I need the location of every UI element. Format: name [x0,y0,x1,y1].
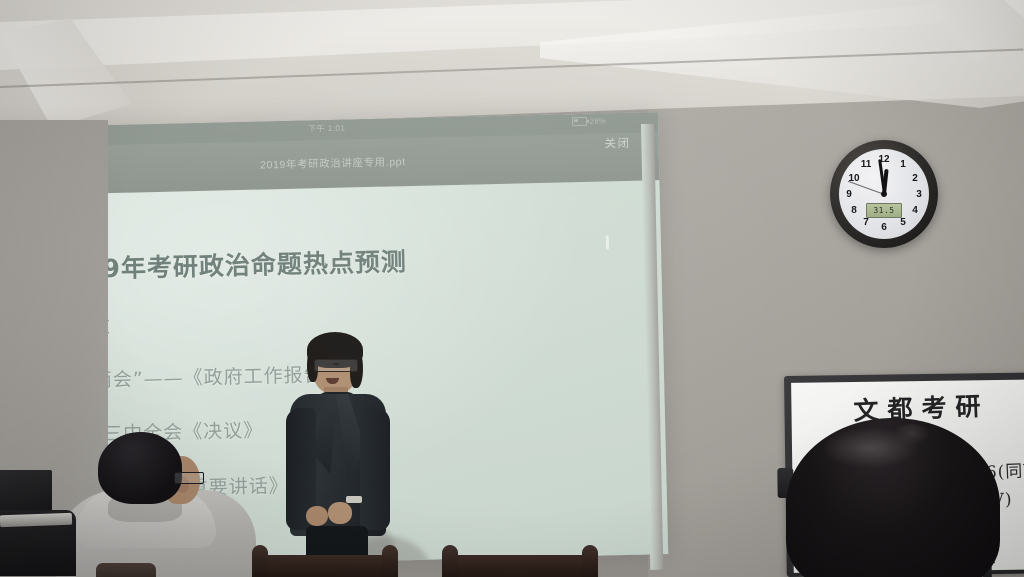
clock-numeral-8: 8 [847,206,861,216]
clock-numeral-2: 2 [908,174,922,184]
glasses-icon [314,359,358,372]
presenter-arm-right [360,408,390,530]
battery-icon [572,117,587,126]
hair-part [894,424,930,446]
wristwatch [346,496,362,503]
clock-face: 12 1 2 3 4 5 6 7 8 9 10 11 31.5 [839,149,929,239]
chair-arm-left-b [382,545,398,577]
audience-member-right [778,418,1008,577]
chair-back-right [450,555,590,577]
clock-numeral-9: 9 [842,190,856,200]
clock-center-pin [881,191,887,197]
lecture-hall-photo: 下午 1:01 28% 关闭 2019年考研政治讲座专用.ppt 一、2019年… [0,0,1024,577]
student-front-left [56,432,256,577]
status-time: 下午 1:01 [308,123,346,135]
chair-back-left [260,555,390,577]
clock-numeral-3: 3 [912,190,926,200]
presenter-hand-left [306,506,328,526]
presenter-hand-right [328,502,352,524]
scroll-indicator[interactable] [606,235,609,249]
chair-back-far-left [96,563,156,577]
clock-numeral-4: 4 [908,206,922,216]
monitor [0,470,52,514]
battery-percent-label: 28% [590,116,606,125]
clock-numeral-5: 5 [896,218,910,228]
podium-edge-strip [0,513,72,528]
clock-lcd-display: 31.5 [866,203,902,218]
av-equipment [0,470,80,577]
status-battery: 28% [572,116,606,126]
presenter [276,330,396,577]
wall-clock: 12 1 2 3 4 5 6 7 8 9 10 11 31.5 [830,140,938,248]
chair-arm-right-a [442,545,458,577]
clock-numeral-1: 1 [896,160,910,170]
clock-numeral-6: 6 [877,223,891,233]
clock-numeral-7: 7 [859,218,873,228]
chair-arm-right-b [582,545,598,577]
student-hair [98,432,182,504]
student-glasses-icon [174,472,204,484]
chair-arm-left-a [252,545,268,577]
clock-numeral-11: 11 [859,160,873,170]
